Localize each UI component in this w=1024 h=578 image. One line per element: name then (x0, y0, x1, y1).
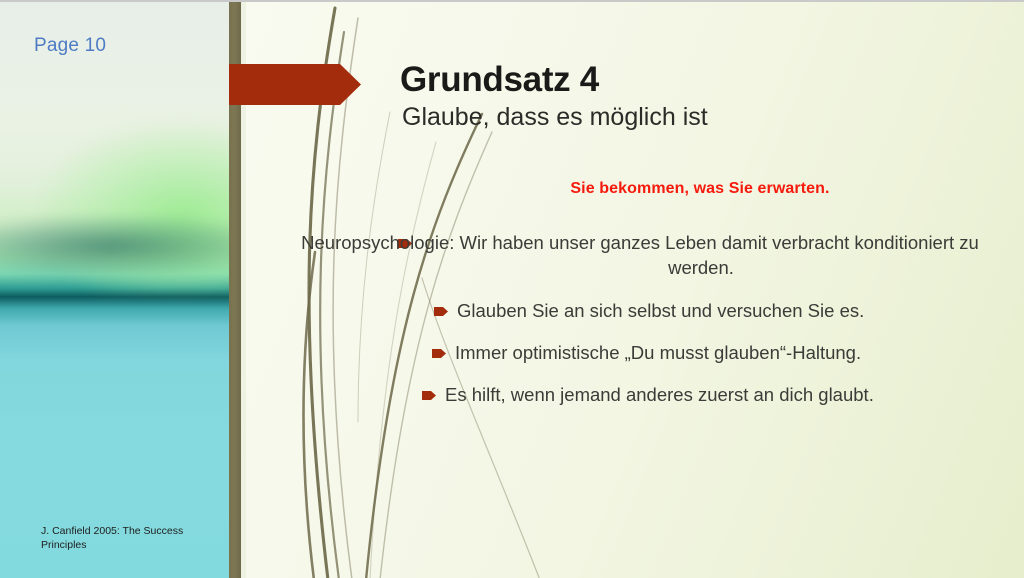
list-item: Glauben Sie an sich selbst und versuchen… (390, 298, 990, 323)
list-item-label: Immer optimistische „Du musst glauben“-H… (455, 340, 861, 365)
page-label: Page 10 (34, 35, 106, 57)
presentation-slide: Page 10 J. Canfield 2005: The Success Pr… (0, 0, 1024, 578)
list-item: Immer optimistische „Du musst glauben“-H… (390, 340, 990, 365)
list-item-label: Glauben Sie an sich selbst und versuchen… (457, 298, 864, 323)
slide-subtitle: Glaube, dass es möglich ist (402, 103, 1000, 132)
title-block: Grundsatz 4 Glaube, dass es möglich ist (400, 60, 1000, 132)
slide-title: Grundsatz 4 (400, 60, 1000, 99)
list-item-label: Es hilft, wenn jemand anderes zuerst an … (445, 382, 874, 407)
list-item-label: Neuropsychologie: Wir haben unser ganzes… (421, 230, 981, 281)
source-citation: J. Canfield 2005: The Success Principles (41, 524, 209, 552)
pennant-bullet-icon (432, 348, 446, 359)
pennant-bullet-icon (422, 390, 436, 401)
list-item: Es hilft, wenn jemand anderes zuerst an … (390, 382, 990, 407)
pennant-bullet-icon (434, 306, 448, 317)
panel-wave-shadow (0, 216, 229, 276)
emphasis-statement: Sie bekommen, was Sie erwarten. (400, 180, 1000, 198)
left-image-panel (0, 2, 229, 578)
bullet-list: Neuropsychologie: Wir haben unser ganzes… (390, 230, 990, 425)
right-arrow-banner-icon (229, 64, 361, 105)
list-item: Neuropsychologie: Wir haben unser ganzes… (390, 230, 990, 281)
